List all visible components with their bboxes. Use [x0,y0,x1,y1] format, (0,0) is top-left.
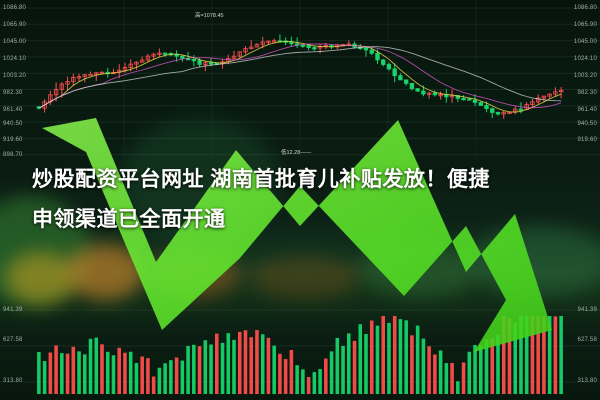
price-axis-right-label: 982.30 [577,90,597,96]
price-axis-right-label: 1045.00 [574,39,597,45]
price-axis-left-label: 919.60 [3,137,23,143]
price-panel [0,0,600,158]
price-axis-left-label: 898.70 [3,152,23,158]
price-axis-left-label: 1065.90 [3,22,26,28]
price-axis-left-label: 1024.10 [3,56,26,62]
price-axis-right-label: 1024.10 [574,56,597,62]
volume-axis-left-label: 627.58 [3,337,23,343]
headline-line-2: 申领渠道已全面开通 [32,200,568,240]
price-axis-left-label: 1045.00 [3,39,26,45]
price-axis-right-label: 919.60 [577,137,597,143]
bokeh-glow [66,244,144,300]
volume-axis-right-label: 627.58 [577,337,597,343]
headline-line-1: 炒股配资平台网址 湖南首批育儿补贴发放！便捷 [32,168,490,191]
screenshot-root: 1086.80 1065.90 1045.00 1024.10 1003.20 … [0,0,600,400]
bokeh-glow [250,256,360,300]
chart-annotation-low: 低12.28—— [281,148,311,156]
chart-annotation-high: 高=1078.45 [195,11,224,19]
bokeh-glow [360,240,480,298]
price-axis-right-label: 1065.90 [574,22,597,28]
price-chart-svg [0,0,600,158]
volume-axis-right-label: 313.80 [577,378,597,384]
price-axis-left-label: 1003.20 [3,73,26,79]
price-axis-right-label: 1086.80 [574,5,597,11]
volume-axis-right-label: 941.39 [577,307,597,313]
volume-panel [0,300,600,400]
volume-axis-left-label: 941.39 [3,307,23,313]
volume-chart-svg [0,300,600,400]
price-axis-right-label: 940.50 [577,121,597,127]
price-axis-left-label: 1086.80 [3,5,26,11]
price-axis-left-label: 961.40 [3,107,23,113]
bokeh-glow [6,252,76,304]
price-axis-left-label: 940.50 [3,121,23,127]
price-axis-left-label: 982.30 [3,90,23,96]
headline-text: 炒股配资平台网址 湖南首批育儿补贴发放！便捷 申领渠道已全面开通 [32,160,568,240]
price-axis-right-label: 1003.20 [574,73,597,79]
volume-axis-left-label: 313.80 [3,378,23,384]
bokeh-glow [150,250,240,298]
price-axis-right-label: 961.40 [577,107,597,113]
